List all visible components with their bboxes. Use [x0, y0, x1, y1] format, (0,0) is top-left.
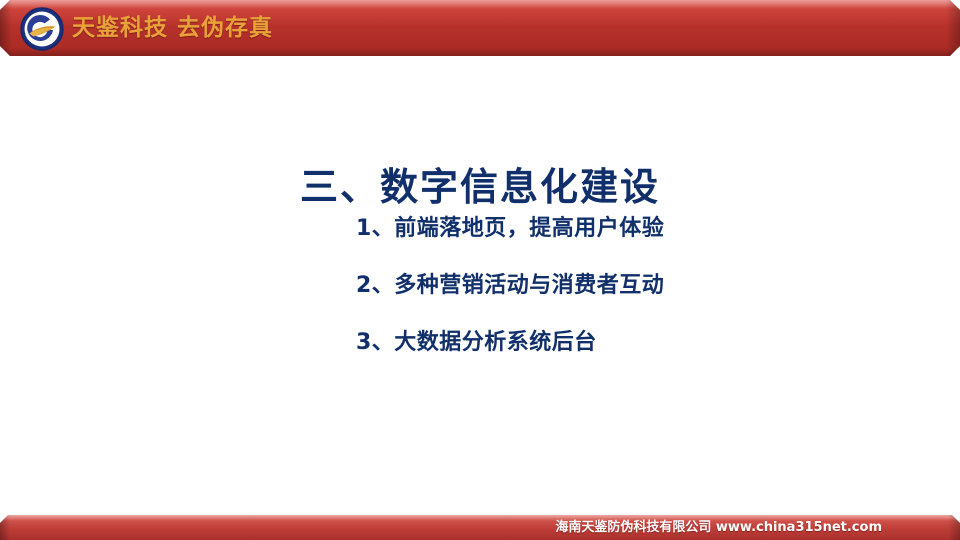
footer-text: 海南天鉴防伪科技有限公司 www.china315net.com [0, 515, 960, 540]
list-item: 1、前端落地页，提高用户体验 [356, 218, 876, 240]
list-item: 2、多种营销活动与消费者互动 [356, 275, 876, 297]
company-logo-icon [20, 7, 64, 51]
slide-body: 三、数字信息化建设 1、前端落地页，提高用户体验 2、多种营销活动与消费者互动 … [0, 56, 960, 515]
list-item: 3、大数据分析系统后台 [356, 332, 876, 354]
page-title: 三、数字信息化建设 [0, 156, 960, 211]
header-bevel-right-shadow [946, 0, 960, 56]
presentation-slide: 天鉴科技 去伪存真 三、数字信息化建设 1、前端落地页，提高用户体验 2、多种营… [0, 0, 960, 540]
brand-slogan: 天鉴科技 去伪存真 [72, 0, 273, 56]
header-bevel-left-shadow [0, 0, 12, 56]
bullet-list: 1、前端落地页，提高用户体验 2、多种营销活动与消费者互动 3、大数据分析系统后… [356, 218, 876, 354]
